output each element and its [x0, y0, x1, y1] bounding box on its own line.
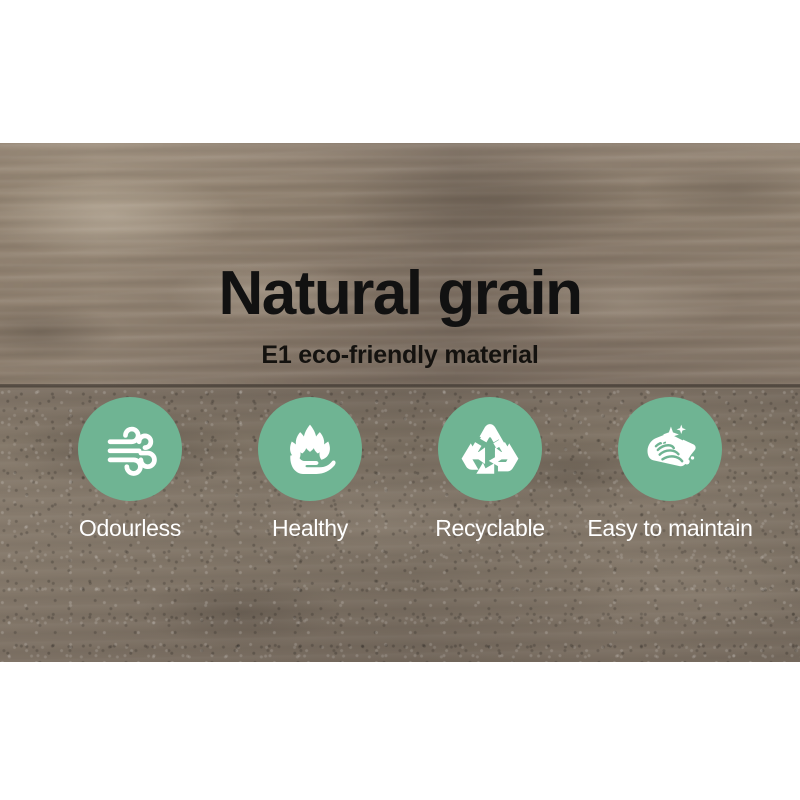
- hand-plant-icon: [280, 419, 340, 479]
- page-subtitle: E1 eco-friendly material: [0, 339, 800, 371]
- feature-badge-odourless: [78, 397, 182, 501]
- feature-list: Odourless: [40, 397, 760, 543]
- feature-item-odourless: Odourless: [40, 397, 220, 543]
- recycle-icon: [460, 419, 520, 479]
- feature-label-recyclable: Recyclable: [435, 513, 545, 543]
- feature-badge-recyclable: [438, 397, 542, 501]
- feature-label-healthy: Healthy: [272, 513, 348, 543]
- feature-badge-easy-to-maintain: [618, 397, 722, 501]
- feature-item-healthy: Healthy: [220, 397, 400, 543]
- feature-item-recyclable: Recyclable: [400, 397, 580, 543]
- feature-label-odourless: Odourless: [79, 513, 181, 543]
- feature-label-easy-to-maintain: Easy to maintain: [587, 513, 752, 543]
- feature-item-easy-to-maintain: Easy to maintain: [580, 397, 760, 543]
- feature-badge-healthy: [258, 397, 362, 501]
- product-feature-banner: Natural grain E1 eco-friendly material O…: [0, 0, 800, 800]
- wind-icon: [101, 420, 159, 478]
- page-title: Natural grain: [0, 259, 800, 329]
- hand-wipe-sparkle-icon: [640, 419, 700, 479]
